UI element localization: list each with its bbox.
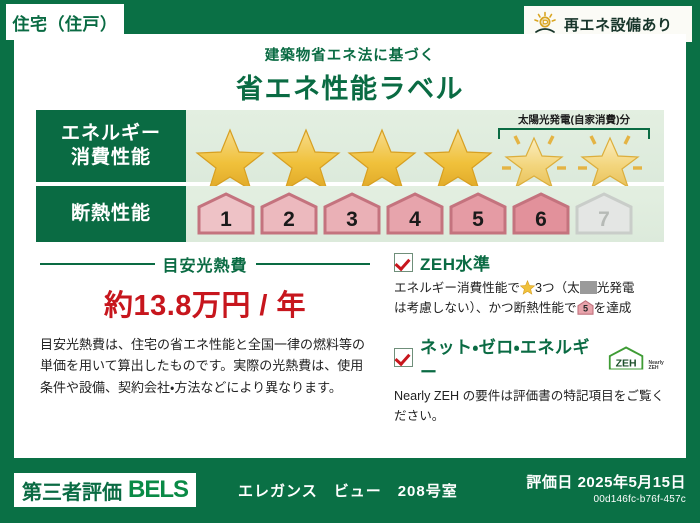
insulation-performance-row: 断熱性能 1234567 [36, 186, 664, 242]
svg-text:7: 7 [598, 208, 610, 231]
net-zero-description: Nearly ZEH の要件は評価書の特記項目をご覧ください。 [394, 386, 674, 427]
third-party-label-jp: 第三者評価 [22, 476, 122, 505]
redaction-block [580, 281, 597, 294]
star-icon [346, 124, 418, 192]
svg-text:5: 5 [472, 208, 484, 231]
net-zero-check-row: ネット・ゼロ・エネルギー ZEH Nearly ZEH [394, 333, 674, 383]
star-solar-icon [498, 124, 570, 192]
insulation-level-house: 1 [196, 192, 256, 241]
house-level-icon: 5 [577, 300, 594, 315]
title-main: 省エネ性能ラベル [14, 67, 686, 106]
insulation-performance-label: 断熱性能 [36, 186, 186, 242]
label-panel: 建築物省エネ法に基づく 省エネ性能ラベル エネルギー 消費性能 太陽光発電(自家… [14, 34, 686, 458]
bels-label: BELS [128, 476, 188, 504]
star-icon [270, 124, 342, 192]
svg-text:3: 3 [346, 208, 358, 231]
house-icon: 1 [196, 192, 256, 236]
zeh-standard-description: エネルギー消費性能で3つ（太光発電 は考慮しない）、かつ断熱性能で5を達成 [394, 278, 674, 319]
star-solar-icon [574, 124, 646, 192]
house-icon: 7 [574, 192, 634, 236]
utility-cost-heading: 目安光熱費 [40, 252, 370, 276]
title-block: 建築物省エネ法に基づく 省エネ性能ラベル [14, 44, 686, 106]
energy-performance-label: エネルギー 消費性能 [36, 110, 186, 182]
utility-cost-value: 約13.8万円 / 年 [40, 282, 370, 324]
zeh-standard-check: ZEH水準 エネルギー消費性能で3つ（太光発電 は考慮しない）、かつ断熱性能で5… [394, 250, 674, 319]
house-icon: 5 [448, 192, 508, 236]
insulation-level-house: 4 [385, 192, 445, 241]
house-icon: 4 [385, 192, 445, 236]
svg-text:5: 5 [583, 304, 588, 314]
zeh-desc-part-a: エネルギー消費性能で [394, 281, 520, 295]
star-icon [422, 124, 494, 192]
zeh-desc-part-star: 3つ（太 [535, 281, 580, 295]
checkbox-checked-icon[interactable] [394, 253, 413, 272]
star-icon [194, 124, 266, 192]
net-zero-energy-check: ネット・ゼロ・エネルギー ZEH Nearly ZEH Nearly ZEH の… [394, 333, 674, 427]
checkbox-checked-icon[interactable] [394, 348, 413, 367]
title-subtitle: 建築物省エネ法に基づく [14, 44, 686, 65]
evaluation-info: 評価日 2025年5月15日 00d146fc-b76f-457c [526, 471, 686, 505]
insulation-level-house: 5 [448, 192, 508, 241]
insulation-level-scale: 1234567 [196, 192, 634, 241]
insulation-level-house: 6 [511, 192, 571, 241]
insulation-level-house: 3 [322, 192, 382, 241]
svg-text:1: 1 [220, 208, 232, 231]
insulation-level-house: 2 [259, 192, 319, 241]
footer-bar: 第三者評価 BELS エレガンス ビュー 208号室 評価日 2025年5月15… [0, 465, 700, 523]
zeh-desc-part-c: は考慮しない）、かつ断熱性能で [394, 301, 577, 315]
zeh-logo-icon: ZEH [606, 345, 646, 371]
utility-cost-heading-text: 目安光熱費 [163, 252, 248, 276]
heading-rule-left [40, 263, 155, 265]
insulation-level-house: 7 [574, 192, 634, 241]
house-icon: 2 [259, 192, 319, 236]
evaluation-id: 00d146fc-b76f-457c [526, 494, 686, 505]
utility-cost-block: 目安光熱費 約13.8万円 / 年 [40, 252, 370, 324]
zeh-logo-subtext: Nearly ZEH [649, 361, 674, 371]
house-icon: 6 [511, 192, 571, 236]
energy-performance-body: 太陽光発電(自家消費)分 [186, 110, 664, 182]
zeh-desc-part-b: 光発電 [597, 281, 635, 295]
energy-label-line2: 消費性能 [71, 146, 151, 170]
insulation-label-text: 断熱性能 [71, 202, 151, 226]
third-party-evaluation-badge: 第三者評価 BELS [14, 473, 196, 507]
property-name: エレガンス ビュー 208号室 [238, 480, 458, 501]
certification-checks: ZEH水準 エネルギー消費性能で3つ（太光発電 は考慮しない）、かつ断熱性能で5… [394, 250, 674, 427]
energy-star-rating [194, 124, 646, 192]
svg-text:2: 2 [283, 208, 295, 231]
zeh-desc-part-d: を達成 [594, 301, 632, 315]
svg-text:4: 4 [409, 208, 421, 231]
heading-rule-right [256, 263, 371, 265]
zeh-standard-check-row: ZEH水準 [394, 250, 674, 275]
energy-label-line1: エネルギー [61, 122, 161, 146]
zeh-standard-title: ZEH水準 [420, 250, 491, 275]
energy-performance-row: エネルギー 消費性能 太陽光発電(自家消費)分 [36, 110, 664, 182]
svg-text:6: 6 [535, 208, 547, 231]
zeh-house-logo: ZEH Nearly ZEH [606, 345, 674, 371]
svg-text:ZEH: ZEH [616, 357, 637, 369]
house-icon: 3 [322, 192, 382, 236]
utility-cost-note: 目安光熱費は、住宅の省エネ性能と全国一律の燃料等の単価を用いて算出したものです。… [40, 334, 376, 398]
star-icon [520, 280, 535, 295]
evaluation-date: 評価日 2025年5月15日 [526, 471, 686, 492]
net-zero-title: ネット・ゼロ・エネルギー [420, 333, 599, 383]
insulation-performance-body: 1234567 [186, 186, 664, 242]
